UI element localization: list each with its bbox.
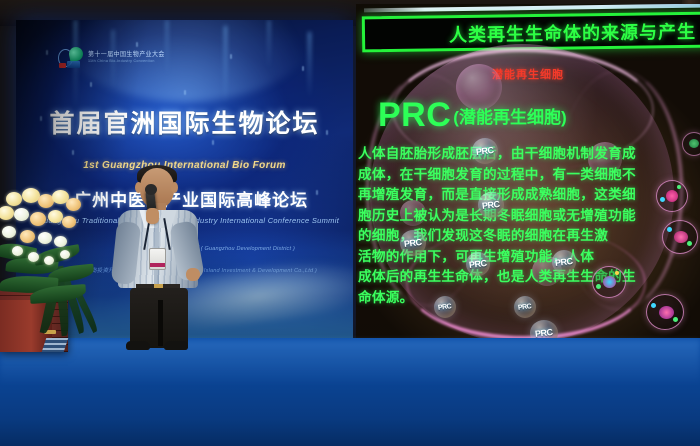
prc-bubble: PRC — [400, 230, 426, 256]
prc-bubble: PRC — [514, 296, 536, 318]
prc-bubble-label: PRC — [404, 237, 423, 249]
cell-diagram — [662, 220, 698, 254]
prc-bubble: PRC — [552, 250, 576, 274]
stage-steps — [42, 338, 69, 352]
prc-bubble: PRC — [478, 192, 504, 218]
prc-bubble-label: PRC — [555, 256, 574, 268]
slide-body-line: 人体自胚胎形成胚层后，由干细胞机制发育成 — [358, 144, 698, 165]
speaker-leg-gap — [158, 300, 163, 346]
speaker-shoe-right — [164, 341, 188, 350]
conference-photo-scene: 第十一届中国生物产业大会 11th China Bio-Industry Con… — [0, 0, 700, 446]
speaker-hand-right — [186, 268, 200, 281]
slide-body-line: 再增殖发育，而是直接形成成熟细胞，这类细 — [358, 185, 698, 206]
slide-body-line: 成体后的再生生命体，也是人类再生生命的生 — [358, 267, 698, 288]
banner-light-beam — [166, 20, 168, 75]
convention-logo-english: 11th China Bio-Industry Convention — [88, 60, 165, 64]
convention-logo-icon — [58, 46, 84, 70]
flower-arrangement — [0, 186, 104, 304]
slide-body-text: 人体自胚胎形成胚层后，由干细胞机制发育成 成体，在干细胞发育的过程中，有一类细胞… — [358, 144, 698, 308]
speaker-ear-left — [135, 182, 142, 193]
banner-light-beam — [224, 26, 227, 104]
speaker-shoe-left — [126, 341, 150, 350]
prc-bubble: PRC — [466, 252, 490, 276]
speaker-person — [116, 168, 202, 348]
stage-floor-sheen — [0, 340, 700, 386]
speaker-hand-holding-mic — [146, 208, 159, 224]
speaker-ear-right — [171, 182, 178, 193]
cell-diagram — [592, 266, 626, 298]
prc-bubble-label: PRC — [482, 199, 501, 211]
prc-bubble-label: PRC — [476, 145, 495, 157]
prc-bubble: PRC — [434, 296, 456, 318]
speaker-name-badge — [149, 248, 166, 270]
banner-title: 首届官洲国际生物论坛 — [16, 104, 353, 140]
microphone-head-icon — [145, 184, 157, 195]
slide-title: 人类再生生命体的来源与产生 — [449, 18, 696, 47]
prc-bubble-label: PRC — [469, 258, 488, 270]
decorative-bubble — [456, 64, 502, 110]
slide-red-label: 潜能再生细胞 — [356, 66, 700, 82]
banner-light-beam — [268, 20, 270, 68]
convention-logo: 第十一届中国生物产业大会 11th China Bio-Industry Con… — [58, 46, 165, 70]
cell-diagram — [656, 180, 688, 212]
slide-top-strip — [364, 4, 700, 12]
slide-body-line: 成体，在干细胞发育的过程中，有一类细胞不 — [358, 165, 698, 186]
cell-diagram — [646, 294, 684, 330]
banner-light-beam — [308, 32, 311, 98]
cell-diagram — [682, 132, 700, 156]
slide-body-line: 胞历史上被认为是长期冬眠细胞或无增殖功能 — [358, 206, 698, 227]
prc-bubble: PRC — [472, 138, 498, 164]
convention-logo-chinese: 第十一届中国生物产业大会 — [88, 52, 165, 58]
prc-bubble-label: PRC — [438, 303, 452, 312]
prc-bubble-label: PRC — [518, 303, 532, 312]
prc-abbreviation: PRC — [378, 100, 451, 131]
projection-slide: 人类再生生命体的来源与产生 潜能再生细胞 PRC (潜能再生细胞) 人体自胚胎形… — [356, 4, 700, 348]
